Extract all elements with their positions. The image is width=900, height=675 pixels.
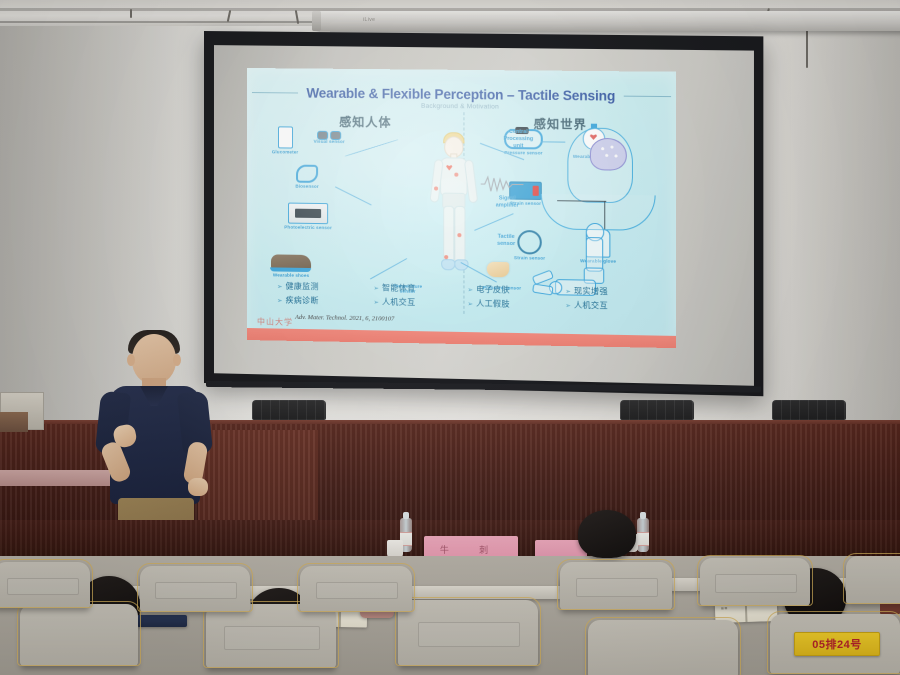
projector-screen-roller[interactable]: iLive	[318, 11, 900, 31]
university-logo-watermark: 中山大学	[257, 316, 293, 328]
audience-seat-4[interactable]	[588, 620, 738, 675]
seat-plate	[715, 574, 796, 592]
seat-plate	[155, 582, 236, 600]
audience-seat-mid-2[interactable]	[140, 566, 250, 612]
bullet-item: ➢ 健康监测	[277, 281, 363, 293]
icon-label: Wearable shoes	[263, 272, 319, 278]
chair-ribs	[252, 400, 326, 420]
figure-arm-right	[464, 159, 478, 203]
sensor-dot-knee	[457, 233, 461, 237]
bullet-item: ➢ 疾病诊断	[277, 295, 363, 308]
chevron-icon: ➢	[277, 296, 282, 304]
audience-seat-1[interactable]	[20, 604, 138, 666]
bullet-row: ➢ 电子皮肤 ➢ 现实增强	[468, 284, 662, 298]
chevron-icon: ➢	[565, 287, 571, 295]
bullet-row: ➢ 健康监测 ➢ 智能体育	[277, 281, 469, 295]
audience-seat-mid-3[interactable]	[300, 566, 412, 612]
stage-chair-1[interactable]	[252, 400, 326, 420]
bullet-text: 人工假肢	[476, 298, 510, 310]
bullet-text: 人机交互	[574, 300, 608, 312]
left-wall-trim	[0, 412, 28, 432]
signal-waveform-icon	[480, 175, 525, 194]
seat-number-plate: 05排24号	[794, 632, 880, 656]
bullet-text: 人机交互	[382, 296, 416, 308]
icon-label: Glucometer	[265, 149, 305, 155]
biosensor-icon	[296, 165, 318, 183]
blue-notebook[interactable]	[137, 615, 187, 627]
projected-slide: Wearable & Flexible Perception – Tactile…	[247, 68, 676, 348]
icon-node-biosensor: Biosensor	[285, 164, 329, 189]
bottle-label	[637, 532, 649, 546]
smart-glasses-icon	[317, 131, 341, 138]
presenter-ear-left	[127, 354, 135, 366]
photoelectric-sensor-icon	[288, 203, 328, 225]
audience-seat-5[interactable]: 05排24号	[770, 614, 900, 674]
presenter-ear-right	[173, 354, 181, 366]
ceiling-cable-6	[130, 9, 132, 18]
glucometer-icon	[277, 126, 292, 148]
seat-plate	[576, 578, 659, 596]
roller-cap-left	[312, 11, 321, 31]
chevron-icon: ➢	[468, 299, 474, 307]
presenter-head	[132, 334, 176, 384]
bullet-list-left: ➢ 健康监测 ➢ 智能体育 ➢ 疾病诊断 ➢ 人机交互	[277, 281, 469, 312]
chevron-icon: ➢	[565, 301, 571, 309]
wearable-shoes-icon	[271, 254, 311, 270]
bullet-text: 智能体育	[382, 282, 416, 294]
audience-seat-mid-4[interactable]	[560, 562, 672, 610]
bullet-item: ➢ 现实增强	[565, 285, 653, 298]
icon-label: Photoelectric sensor	[275, 224, 341, 230]
sensor-dot-elbow	[434, 186, 438, 190]
chevron-icon: ➢	[468, 285, 474, 293]
ceiling-cable-5	[806, 30, 808, 68]
lecture-hall-screenshot: iLive Wearable & Flexible Perception – T…	[0, 0, 900, 675]
human-body-illustration	[424, 128, 483, 280]
student-head-3	[578, 510, 636, 558]
stage-chair-3[interactable]	[772, 400, 846, 420]
connector-arc-5	[370, 258, 407, 279]
bullet-item: ➢ 人机交互	[373, 296, 460, 309]
placard-text: 牛 刺	[424, 543, 518, 556]
slide-citation: Adv. Mater. Technol. 2021, 6, 2100107	[295, 314, 394, 323]
icon-node-glucometer: Glucometer	[265, 126, 305, 155]
bullet-text: 电子皮肤	[476, 284, 510, 296]
roller-brand-label: iLive	[363, 17, 375, 23]
chevron-icon: ➢	[373, 284, 378, 292]
bullet-row: ➢ 人工假肢 ➢ 人机交互	[468, 298, 662, 313]
brain-detail	[596, 142, 623, 165]
chair-ribs	[772, 400, 846, 420]
slide-title: Wearable & Flexible Perception – Tactile…	[306, 86, 615, 104]
chevron-icon: ➢	[277, 282, 282, 290]
bullet-item: ➢ 人工假肢	[468, 298, 556, 311]
chevron-icon: ➢	[373, 298, 378, 306]
bullet-text: 疾病诊断	[285, 295, 318, 307]
icon-node-photoelectric-sensor: Photoelectric sensor	[275, 202, 341, 230]
audience-seat-mid-6[interactable]	[846, 556, 900, 604]
arrow-signal-up	[604, 201, 606, 229]
sensor-dot-chest	[454, 173, 458, 177]
bullet-item: ➢ 人机交互	[565, 299, 653, 312]
seat-number-text: 05排24号	[812, 636, 861, 652]
seat-plate	[316, 582, 399, 600]
seat-plate	[418, 622, 521, 646]
label-central-processing-unit: Central Processing unit	[492, 129, 545, 150]
icon-node-wearable-shoes: Wearable shoes	[263, 254, 319, 278]
bullet-text: 现实增强	[574, 285, 608, 297]
title-rule-left	[252, 92, 298, 93]
seat-plate	[224, 626, 320, 650]
presenter-resting-hand	[188, 478, 208, 496]
human-finger-illustration	[487, 262, 509, 278]
icon-node-visual-sensor: Visual sensor	[307, 131, 351, 145]
label-signal-amplifier: Signal amplifier	[484, 195, 531, 209]
bullet-text: 健康监测	[285, 281, 318, 293]
chair-ribs	[620, 400, 694, 420]
bullet-row: ➢ 疾病诊断 ➢ 人机交互	[277, 295, 469, 309]
water-bottle-2[interactable]	[637, 518, 649, 552]
audience-seat-3[interactable]	[398, 600, 538, 666]
audience-seat-2[interactable]	[206, 604, 336, 668]
bullet-item: ➢ 智能体育	[373, 282, 460, 295]
bullet-list-right: ➢ 电子皮肤 ➢ 现实增强 ➢ 人工假肢 ➢ 人机交互	[468, 284, 662, 316]
audience-seat-mid-5[interactable]	[700, 558, 810, 606]
audience-seat-mid-1[interactable]	[0, 562, 90, 608]
figure-foot-left	[441, 259, 455, 270]
sensor-dot-ankle	[444, 255, 448, 259]
stage-chair-2[interactable]	[620, 400, 694, 420]
label-tactile-sensor: Tactile sensor	[487, 234, 526, 248]
title-rule-right	[623, 96, 670, 97]
bullet-item: ➢ 电子皮肤	[468, 284, 556, 297]
seat-plate	[7, 578, 78, 596]
icon-label: Visual sensor	[307, 139, 351, 145]
icon-label: Biosensor	[285, 183, 329, 189]
connector-arc-1	[344, 139, 398, 157]
